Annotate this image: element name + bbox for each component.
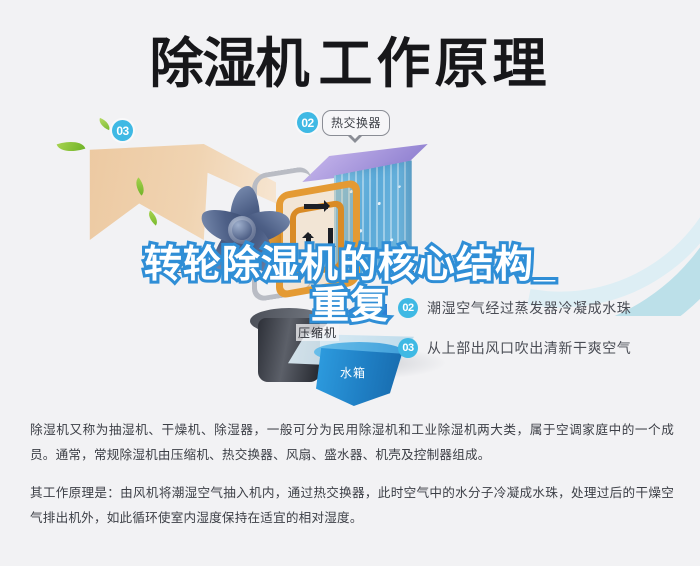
title-part-1: 除湿机 [150,34,309,94]
moist-air-swoosh-icon [372,104,700,316]
leaf-icon [57,136,86,156]
water-tank-label: 水箱 [340,364,366,381]
title-part-2: 工作原理 [319,34,551,94]
caption-text-03: 从上部出风口吹出清新干爽空气 [427,338,631,358]
paragraph-1: 除湿机又称为抽湿机、干燥机、除湿器，一般可分为民用除湿机和工业除湿机两大类，属于… [30,418,674,467]
flow-arrow-down-icon [328,228,333,250]
flow-arrow-right-icon [304,204,328,209]
badge-02: 02 [297,112,318,133]
leaf-icon [97,118,112,130]
machine-assembly: 压缩机 水箱 [230,142,420,392]
fan-hub [228,216,256,244]
caption-item: 03 从上部出风口吹出清新干爽空气 [398,338,688,358]
body-copy: 除湿机又称为抽湿机、干燥机、除湿器，一般可分为民用除湿机和工业除湿机两大类，属于… [30,418,674,544]
caption-badge-02: 02 [398,298,418,318]
caption-item: 02 潮湿空气经过蒸发器冷凝成水珠 [398,298,688,318]
compressor-label: 压缩机 [296,324,339,341]
caption-list: 02 潮湿空气经过蒸发器冷凝成水珠 03 从上部出风口吹出清新干爽空气 [398,298,688,378]
fan-icon [190,178,294,282]
badge-03: 03 [112,120,133,141]
flow-arrow-up-icon [306,234,311,258]
paragraph-2: 其工作原理是：由风机将潮湿空气抽入机内，通过热交换器，此时空气中的水分子冷凝成水… [30,481,674,530]
caption-badge-03: 03 [398,338,418,358]
page-title: 除湿机工作原理 [0,28,700,100]
caption-text-02: 潮湿空气经过蒸发器冷凝成水珠 [427,298,631,318]
infographic-page: 除湿机工作原理 干燥空气 03 02 热交换器 01 潮湿空气 [0,0,700,566]
heat-exchanger-callout: 热交换器 [322,110,390,136]
